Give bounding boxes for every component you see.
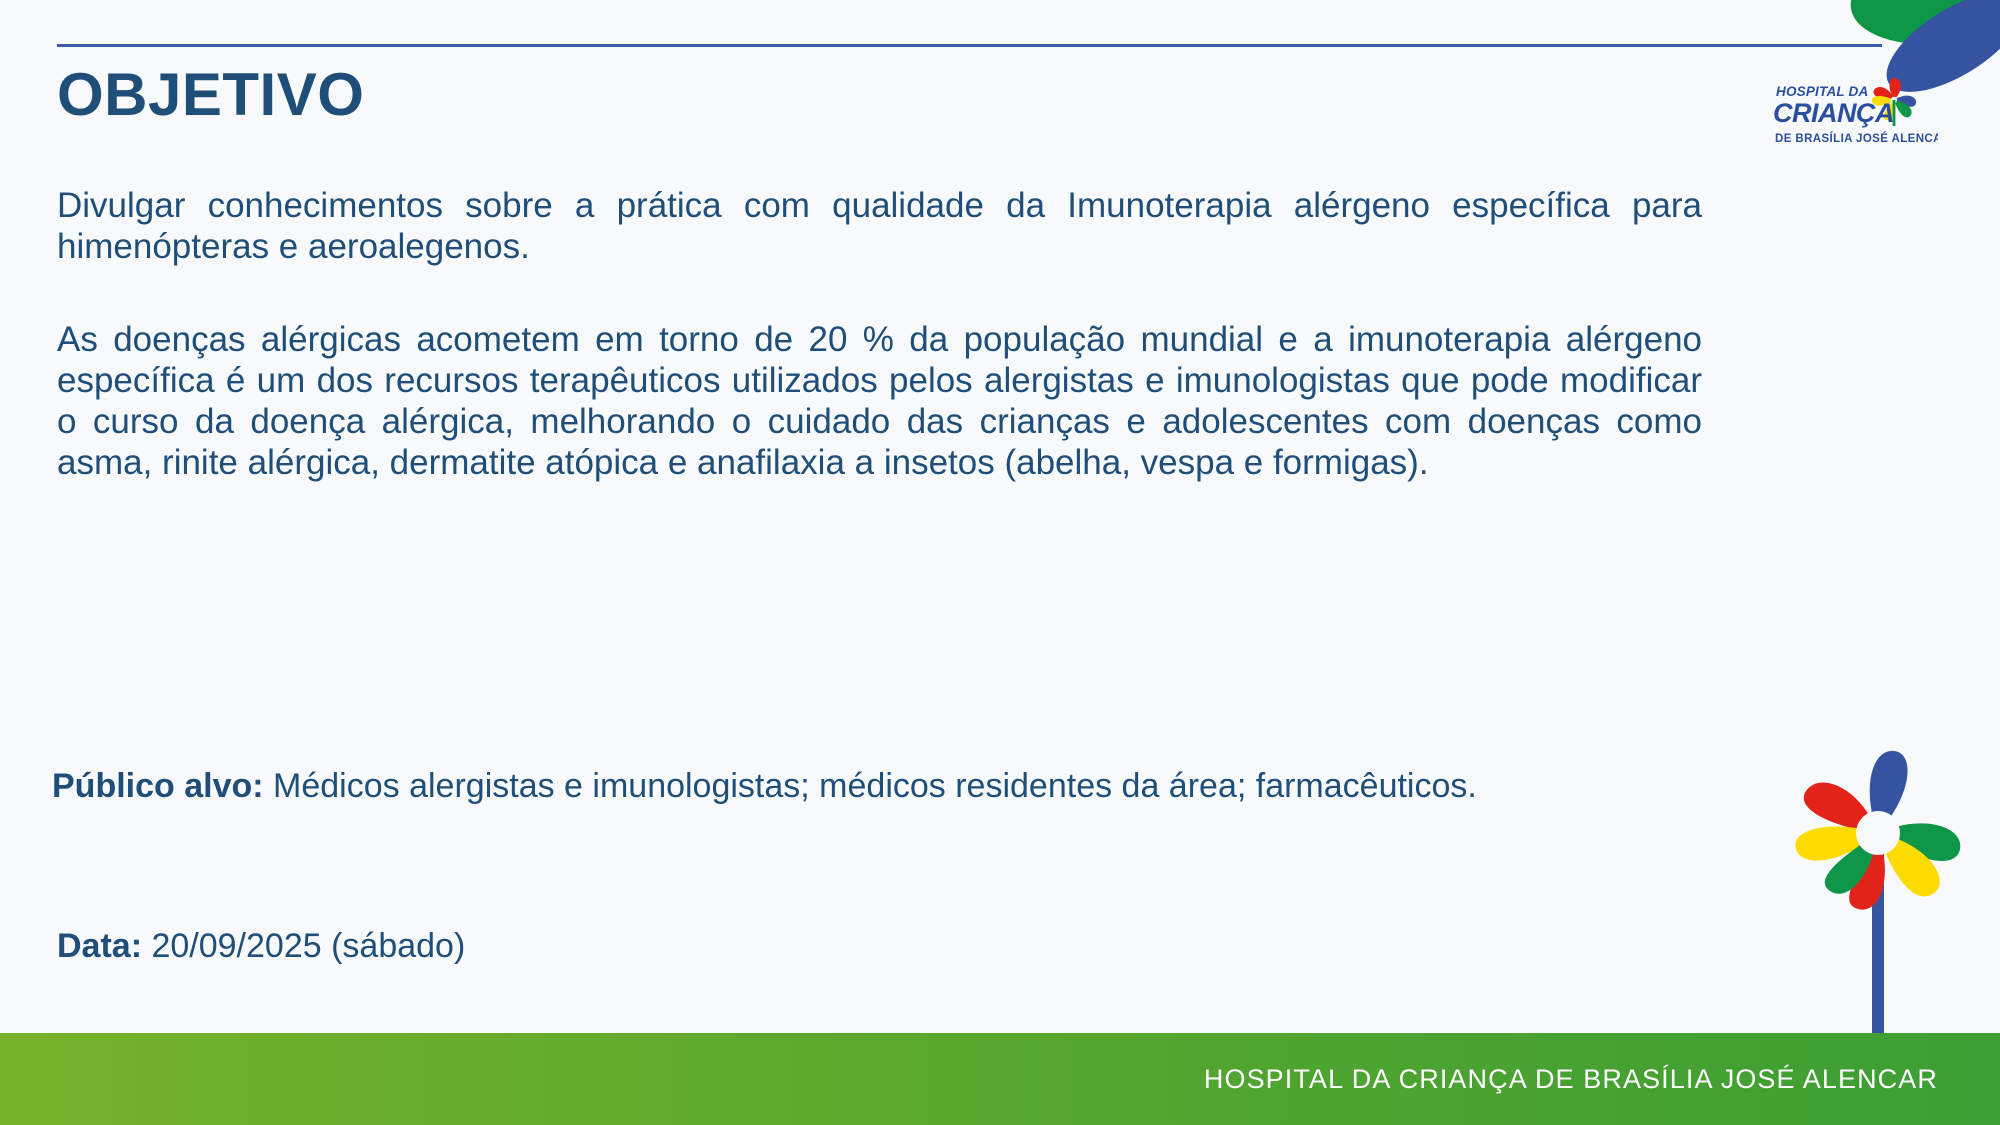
- hospital-logo: HOSPITAL DA CRIANÇA DE BRASÍLIA JOSÉ ALE…: [1770, 78, 1938, 156]
- paragraph-objective: Divulgar conhecimentos sobre a prática c…: [57, 186, 1702, 268]
- corner-green-blob: [1844, 0, 2000, 56]
- logo-line2: CRIANÇA: [1773, 98, 1894, 128]
- target-audience: Público alvo: Médicos alergistas e imuno…: [52, 765, 1552, 809]
- event-date-value: 20/09/2025 (sábado): [142, 927, 465, 965]
- paragraph-spacer: [57, 268, 1702, 320]
- event-date-label: Data:: [57, 927, 142, 965]
- event-date: Data: 20/09/2025 (sábado): [57, 925, 465, 969]
- footer-text: HOSPITAL DA CRIANÇA DE BRASÍLIA JOSÉ ALE…: [1204, 1064, 2000, 1095]
- slide-objetivo: OBJETIVO HOSPITAL DA CRIANÇA DE BRASÍLIA…: [0, 0, 2000, 1125]
- pinwheel-hub: [1856, 811, 1900, 855]
- target-audience-value: Médicos alergistas e imunologistas; médi…: [264, 767, 1477, 805]
- pinwheel-stem: [1872, 831, 1884, 1033]
- pinwheel-blades: [1795, 749, 1960, 909]
- logo-line3: DE BRASÍLIA JOSÉ ALENCAR: [1775, 132, 1938, 145]
- paragraph-context: As doenças alérgicas acometem em torno d…: [57, 320, 1702, 484]
- pinwheel-graphic: [1750, 713, 2000, 1033]
- objective-body: Divulgar conhecimentos sobre a prática c…: [57, 186, 1702, 484]
- footer-bar: HOSPITAL DA CRIANÇA DE BRASÍLIA JOSÉ ALE…: [0, 1033, 2000, 1125]
- header-divider: [57, 44, 1882, 47]
- target-audience-label: Público alvo:: [52, 767, 264, 805]
- page-title: OBJETIVO: [57, 62, 364, 128]
- logo-line1: HOSPITAL DA: [1776, 84, 1868, 99]
